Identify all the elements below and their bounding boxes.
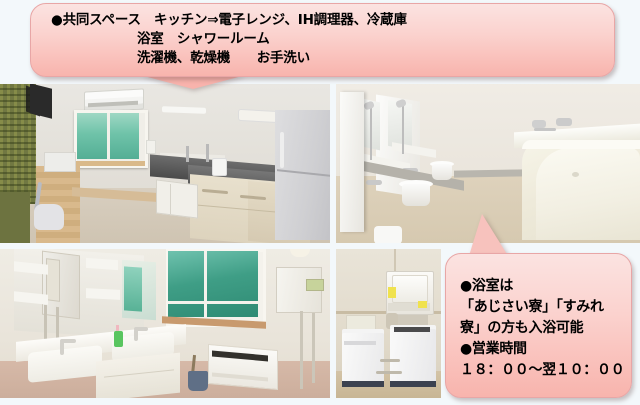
mirror-shelf-c: [86, 258, 118, 270]
wall-pipe-2: [312, 313, 315, 383]
note-callout-line-2: 「あじさい寮」「すみれ: [460, 297, 631, 318]
washer-2-base: [390, 381, 436, 387]
window-sill: [72, 161, 145, 166]
refrigerator-handle: [280, 132, 284, 168]
bath-stool-1: [432, 164, 452, 180]
basin-tap-2: [134, 329, 138, 341]
wall-control-panel: [146, 140, 156, 154]
note-callout-line-1: ●浴室は: [460, 276, 631, 297]
cleaning-bucket: [188, 371, 208, 391]
bathtub-tap-b: [556, 118, 572, 126]
faucet-left: [186, 146, 189, 162]
washer-1-panel: [344, 341, 376, 345]
window-rail: [168, 301, 258, 304]
drain-hose-1: [380, 359, 400, 362]
wall-tv: [30, 84, 52, 119]
shower-partition-1: [340, 92, 364, 232]
wall-pipe-1: [300, 311, 303, 389]
water-jug: [212, 158, 227, 176]
wall-skirting-2: [454, 169, 526, 177]
header-callout-tail: [140, 75, 246, 89]
ceiling-light-right: [238, 109, 280, 123]
washroom-photo: [0, 249, 330, 398]
washing-machine-2: [390, 329, 436, 387]
note-callout: ●浴室は 「あじさい寮」「すみれ 寮」の方も入浴可能 ●営業時間 １８：００〜翌…: [445, 253, 632, 398]
bath-stool-2: [402, 184, 430, 206]
control-panel-screen: [306, 279, 324, 291]
faucet-right: [206, 144, 209, 162]
kitchen-photo: [0, 84, 330, 243]
dryer-label-1: [388, 287, 396, 298]
bathtub-drain: [572, 172, 579, 177]
header-callout-line-2: 浴室 シャワールーム: [51, 30, 614, 49]
patterned-curtain-lower: [0, 192, 30, 243]
note-callout-line-3: 寮」の方も入浴可能: [460, 318, 631, 339]
soap-dispenser: [114, 331, 123, 347]
slide-root: ●共同スペース キッチン⇒電子レンジ、IH調理器、冷蔵庫 浴室 シャワールーム …: [0, 0, 640, 405]
washroom-scene: [0, 249, 330, 398]
storage-box: [44, 152, 76, 172]
note-callout-line-5: １８：００〜翌１０：００: [460, 360, 631, 381]
bath-stool-3: [374, 226, 402, 243]
dryer-label-2: [418, 301, 427, 308]
shower-hose-1: [370, 108, 372, 160]
bathtub-tap-a: [532, 120, 546, 128]
window-mullion: [107, 113, 110, 159]
washer-2-panel: [394, 327, 430, 332]
drain-hose-2: [376, 371, 402, 374]
window-glass: [168, 251, 258, 317]
mirror-shelf-d: [86, 288, 120, 300]
side-mirror-glass: [124, 266, 142, 311]
shower-tap-1: [366, 180, 382, 185]
water-heater-panel: [46, 258, 60, 302]
washer-1-base: [342, 381, 384, 387]
header-callout-line-1: ●共同スペース キッチン⇒電子レンジ、IH調理器、冷蔵庫: [51, 11, 614, 30]
bathtub-rim: [522, 140, 640, 149]
laundry-scene: [336, 249, 441, 398]
note-callout-line-4: ●営業時間: [460, 339, 631, 360]
shower-hose-2: [402, 106, 404, 154]
open-shelf-unit: [156, 179, 198, 218]
dryer-door: [392, 275, 428, 303]
bathtub-spout: [534, 128, 556, 131]
vacuum-cleaner: [34, 204, 64, 230]
basin-tap-1: [60, 341, 64, 355]
header-callout: ●共同スペース キッチン⇒電子レンジ、IH調理器、冷蔵庫 浴室 シャワールーム …: [30, 3, 615, 77]
open-shelf-divider: [170, 184, 171, 214]
window-mullion: [204, 251, 207, 317]
header-callout-line-3: 洗濯機、乾燥機 お手洗い: [51, 49, 614, 68]
kitchen-scene: [0, 84, 330, 243]
laundry-photo: [336, 249, 441, 398]
heater-pipe-1: [44, 305, 47, 339]
bathtub-inner: [536, 148, 640, 240]
heater-pipe-2: [56, 307, 59, 339]
